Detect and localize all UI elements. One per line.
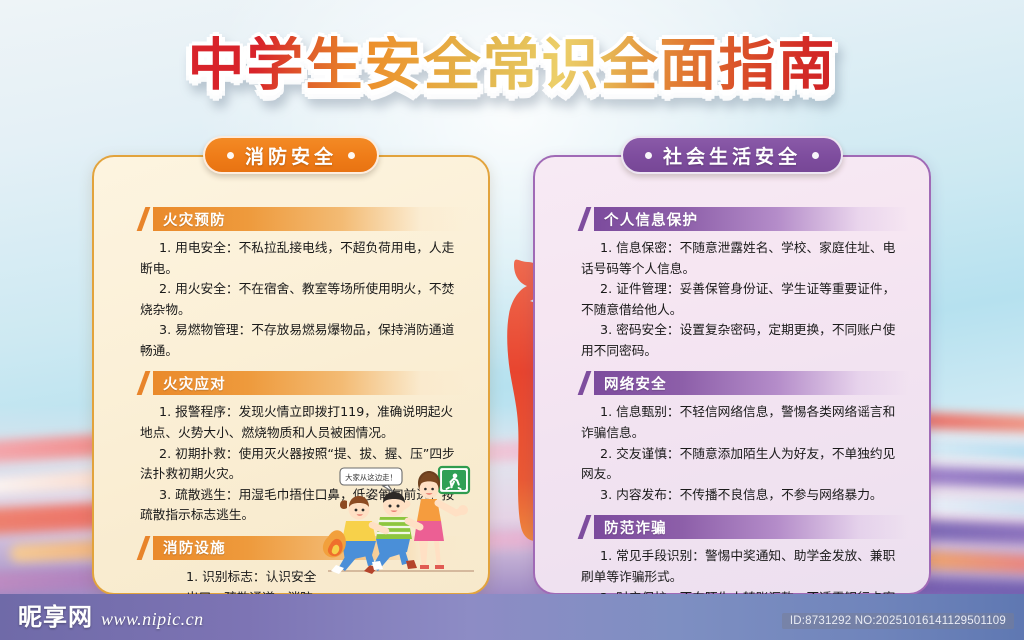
section-header-bar: 网络安全 [594,371,909,395]
illustration-fire-evacuation: 大家从这边走！ [322,459,482,587]
section-title: 个人信息保护 [604,209,698,230]
section-header-personal-info-protection: 个人信息保护 [577,207,909,231]
section-list-personal-info-protection: 1. 信息保密：不随意泄露姓名、学校、家庭住址、电话号码等个人信息。 2. 证件… [581,238,901,361]
badge-label: 社会生活安全 [663,142,801,169]
section-header-network-safety: 网络安全 [577,371,909,395]
list-item: 1. 常见手段识别：警惕中奖通知、助学金发放、兼职刷单等诈骗形式。 [581,546,901,587]
slash-accent-icon [136,207,151,231]
section-header-bar: 防范诈骗 [594,515,909,539]
badge-label: 消防安全 [245,142,337,169]
watermark-logo: 昵享网 [18,597,93,632]
dot-icon [348,152,355,159]
slash-accent-icon [577,515,592,539]
panel-social-life-safety-body: 个人信息保护 1. 信息保密：不随意泄露姓名、学校、家庭住址、电话号码等个人信息… [533,155,931,595]
list-item: 1. 信息甄别：不轻信网络信息，警惕各类网络谣言和诈骗信息。 [581,402,901,443]
image-id-label: ID:8731292 NO:20251016141129501109 [782,613,1014,629]
section-list-fire-prevention: 1. 用电安全：不私拉乱接电线，不超负荷用电，人走断电。 2. 用火安全：不在宿… [140,238,460,361]
slash-accent-icon [136,536,151,560]
section-title: 网络安全 [604,373,667,394]
section-header-bar: 火灾应对 [153,371,468,395]
page-title: 中学生安全常识全面指南 [188,36,837,96]
section-header-bar: 个人信息保护 [594,207,909,231]
fire-flame-icon [323,530,346,557]
section-list-network-safety: 1. 信息甄别：不轻信网络信息，警惕各类网络谣言和诈骗信息。 2. 交友谨慎：不… [581,402,901,505]
speech-bubble-text: 大家从这边走！ [345,473,397,482]
list-item: 3. 易燃物管理：不存放易燃易爆物品，保持消防通道畅通。 [140,320,460,361]
poster-title-wrapper: 中学生安全常识全面指南 [0,36,1024,96]
list-item: 1. 用电安全：不私拉乱接电线，不超负荷用电，人走断电。 [140,238,460,279]
poster-canvas: 中学生安全常识全面指南 火灾预防 1. 用电安全：不私拉乱接电线，不超负荷用电，… [0,0,1024,640]
section-header-fire-response: 火灾应对 [136,371,468,395]
slash-accent-icon [577,371,592,395]
list-item: 2. 交友谨慎：不随意添加陌生人为好友，不单独约见网友。 [581,444,901,485]
dot-icon [812,152,819,159]
section-title: 消防设施 [163,537,226,558]
list-item: 2. 证件管理：妥善保管身份证、学生证等重要证件，不随意借给他人。 [581,279,901,320]
section-title: 火灾应对 [163,373,226,394]
panel-fire-safety: 火灾预防 1. 用电安全：不私拉乱接电线，不超负荷用电，人走断电。 2. 用火安… [92,155,490,595]
badge-social-life-safety: 社会生活安全 [621,136,843,174]
section-network-safety: 网络安全 1. 信息甄别：不轻信网络信息，警惕各类网络谣言和诈骗信息。 2. 交… [555,371,909,505]
list-item: 1. 报警程序：发现火情立即拨打119，准确说明起火地点、火势大小、燃烧物质和人… [140,402,460,443]
section-title: 火灾预防 [163,209,226,230]
section-personal-info-protection: 个人信息保护 1. 信息保密：不随意泄露姓名、学校、家庭住址、电话号码等个人信息… [555,207,909,361]
dot-icon [645,152,652,159]
badge-fire-safety: 消防安全 [203,136,379,174]
section-header-fire-prevention: 火灾预防 [136,207,468,231]
list-item: 3. 内容发布：不传播不良信息，不参与网络暴力。 [581,485,901,506]
panel-fire-safety-body: 火灾预防 1. 用电安全：不私拉乱接电线，不超负荷用电，人走断电。 2. 用火安… [92,155,490,595]
panel-social-life-safety: 个人信息保护 1. 信息保密：不随意泄露姓名、学校、家庭住址、电话号码等个人信息… [533,155,931,595]
section-title: 防范诈骗 [604,517,667,538]
watermark: 昵享网 www.nipic.cn [18,597,204,632]
watermark-url: www.nipic.cn [101,609,204,632]
section-fire-prevention: 火灾预防 1. 用电安全：不私拉乱接电线，不超负荷用电，人走断电。 2. 用火安… [114,207,468,361]
exit-sign-icon [439,467,469,493]
list-item: 3. 密码安全：设置复杂密码，定期更换，不同账户使用不同密码。 [581,320,901,361]
section-header-bar: 火灾预防 [153,207,468,231]
list-item: 2. 用火安全：不在宿舍、教室等场所使用明火，不焚烧杂物。 [140,279,460,320]
speech-bubble: 大家从这边走！ [340,468,402,492]
slash-accent-icon [577,207,592,231]
dot-icon [227,152,234,159]
slash-accent-icon [136,371,151,395]
section-header-fraud-prevention: 防范诈骗 [577,515,909,539]
list-item: 1. 信息保密：不随意泄露姓名、学校、家庭住址、电话号码等个人信息。 [581,238,901,279]
